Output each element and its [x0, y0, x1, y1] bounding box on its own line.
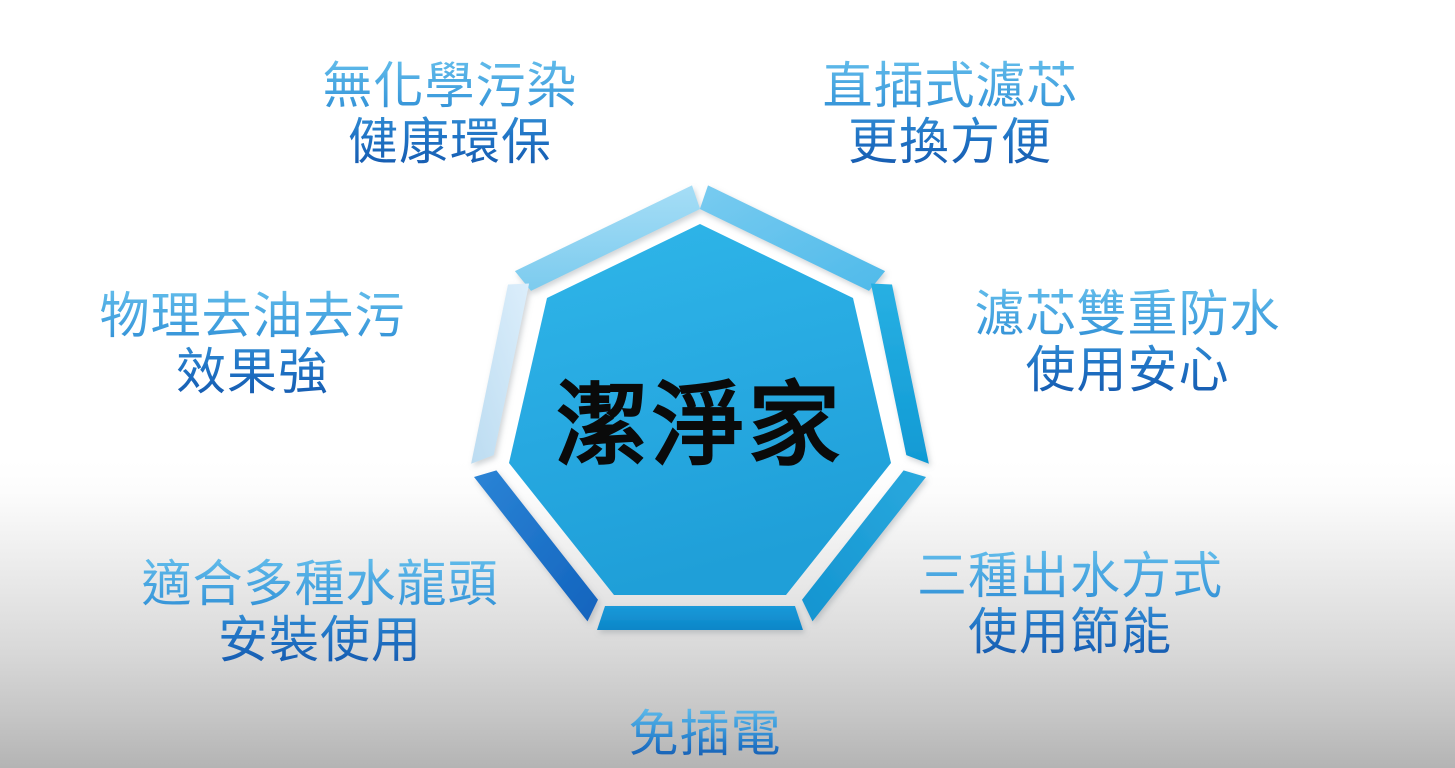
feature-line-1: 無化學污染 — [265, 58, 635, 114]
feature-line-1: 直插式濾芯 — [790, 58, 1110, 114]
feature-line-1: 適合多種水龍頭 — [100, 556, 540, 612]
feature-line-2: 健康環保 — [265, 114, 635, 170]
feature-line-2: 使用節能 — [885, 604, 1255, 660]
feature-label-right: 濾芯雙重防水 使用安心 — [940, 286, 1315, 398]
feature-label-bottom: 免插電 — [555, 706, 855, 762]
segment-bottom — [597, 606, 803, 630]
feature-label-left: 物理去油去污 效果強 — [55, 288, 450, 400]
feature-line-1: 濾芯雙重防水 — [940, 286, 1315, 342]
feature-label-bottom-left: 適合多種水龍頭 安裝使用 — [100, 556, 540, 668]
feature-label-top-right: 直插式濾芯 更換方便 — [790, 58, 1110, 170]
feature-line-2: 安裝使用 — [100, 612, 540, 668]
feature-line-1: 物理去油去污 — [55, 288, 450, 344]
feature-label-top-left: 無化學污染 健康環保 — [265, 58, 635, 170]
feature-line-2: 更換方便 — [790, 114, 1110, 170]
feature-line-2: 使用安心 — [940, 342, 1315, 398]
feature-line-1: 三種出水方式 — [885, 548, 1255, 604]
feature-label-bottom-right: 三種出水方式 使用節能 — [885, 548, 1255, 660]
infographic-canvas: 潔淨家 無化學污染 健康環保 直插式濾芯 更換方便 濾芯雙重防水 使用安心 三種… — [0, 0, 1455, 768]
heptagon-core — [509, 224, 891, 595]
feature-line-1: 免插電 — [555, 706, 855, 762]
feature-line-2: 效果強 — [55, 344, 450, 400]
